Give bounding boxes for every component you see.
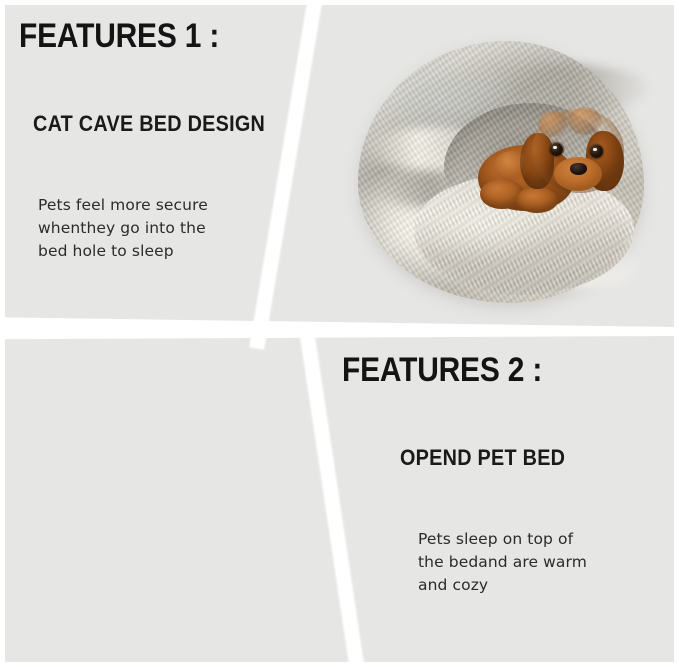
features-1-heading: FEATURES 1 : [19,19,265,55]
puppy-eye-right [590,145,603,158]
puppy-eye-left [550,143,563,156]
puppy-in-cave-bed [476,105,636,225]
features-2-body-line: and cozy [418,574,642,597]
features-2-text-block: FEATURES 2 : OPEND PET BED Pets sleep on… [342,353,642,598]
features-2-body-line: the bedand are warm [418,551,642,574]
features-1-body-line: bed hole to sleep [38,240,299,263]
features-2-heading: FEATURES 2 : [342,353,606,389]
features-2-panel: FEATURES 2 : OPEND PET BED Pets sleep on… [5,336,674,662]
features-2-body-line: Pets sleep on top of [418,528,642,551]
features-1-text-block: FEATURES 1 : CAT CAVE BED DESIGN Pets fe… [19,19,299,264]
features-1-body-line: whenthey go into the [38,217,299,240]
features-1-subheading: CAT CAVE BED DESIGN [33,112,272,136]
puppy-fur-curl [538,111,568,137]
features-2-subheading: OPEND PET BED [400,446,618,470]
features-1-body-line: Pets feel more secure [38,194,299,217]
pet-bed-features-infographic: FEATURES 1 : CAT CAVE BED DESIGN Pets fe… [0,0,679,667]
cave-bed-shell [358,41,644,303]
cat-cave-bed-photo [350,27,650,317]
puppy-nose [570,163,587,175]
features-1-panel: FEATURES 1 : CAT CAVE BED DESIGN Pets fe… [5,5,674,327]
puppy-fur-curl [568,107,602,135]
features-2-body: Pets sleep on top of the bedand are warm… [418,528,642,598]
features-1-body: Pets feel more secure whenthey go into t… [38,194,299,264]
puppy-paw [516,187,558,213]
puppy-fur-curl [494,151,530,181]
